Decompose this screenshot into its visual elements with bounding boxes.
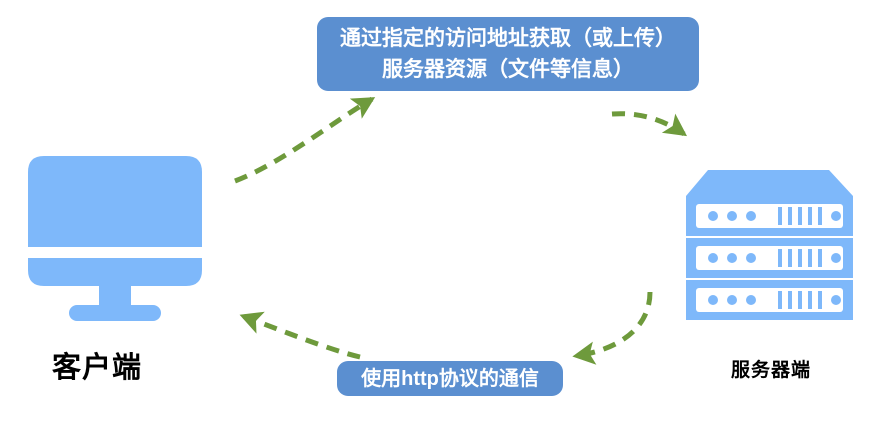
request-label-box: 通过指定的访问地址获取（或上传） 服务器资源（文件等信息） [317, 17, 699, 91]
request-label-line1: 通过指定的访问地址获取（或上传） [340, 23, 676, 54]
response-label-line1: 使用http协议的通信 [361, 367, 539, 391]
client-caption: 客户端 [52, 344, 142, 386]
response-label-box: 使用http协议的通信 [337, 361, 563, 396]
arrow-request-label-to-server [612, 114, 684, 134]
arrow-client-to-request-label [235, 99, 372, 181]
server-rack-icon [682, 168, 857, 328]
arrow-server-to-response-label [576, 292, 650, 356]
desktop-monitor-icon [20, 150, 210, 330]
diagram-canvas: 通过指定的访问地址获取（或上传） 服务器资源（文件等信息） 使用http协议的通… [0, 0, 880, 426]
server-caption: 服务器端 [731, 355, 811, 382]
arrow-response-label-to-client [243, 316, 360, 357]
request-label-line2: 服务器资源（文件等信息） [382, 54, 634, 85]
